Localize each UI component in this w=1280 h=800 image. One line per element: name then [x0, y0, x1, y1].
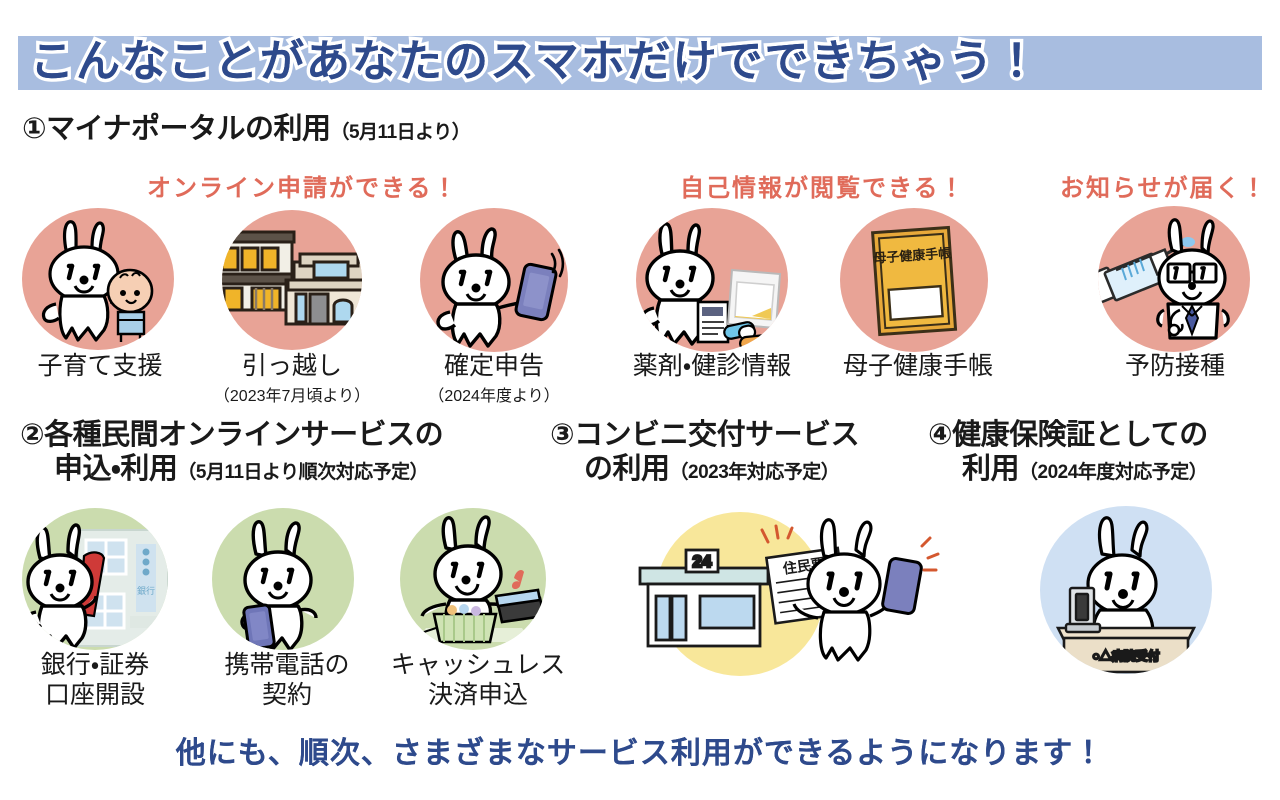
icon-circle-cashless-payment	[400, 508, 546, 650]
icon-circle-childcare	[22, 208, 174, 350]
section-3-number: ③	[550, 419, 574, 451]
caption-mobile-contract-line1: 携帯電話の	[192, 650, 382, 680]
caption-moving: 引っ越し	[202, 352, 382, 381]
icon-circle-maternal-handbook: 母子健康手帳	[840, 208, 988, 352]
caption-bank-account-line2: 口座開設	[0, 680, 190, 710]
hospital-desk-text: ○△病院受付	[1092, 649, 1159, 663]
caption-vaccination: 予防接種	[1080, 352, 1270, 381]
group-heading-own-info: 自己情報が閲覧できる！	[680, 168, 966, 203]
caption-childcare: 子育て支援	[0, 352, 200, 381]
houses-icon	[222, 210, 362, 350]
section-1-number: ①	[22, 113, 46, 145]
rabbit-with-smartphone-icon	[420, 208, 568, 352]
section-2-title-line1: 各種民間オンラインサービスの	[44, 419, 443, 451]
icon-circle-mobile-contract	[212, 508, 354, 650]
section-3-title-line1: コンビニ交付サービス	[574, 419, 859, 451]
page-title: こんなことがあなたのスマホだけでできちゃう！	[30, 26, 1250, 98]
subcaption-moving: （2023年7月頃より）	[182, 382, 402, 406]
caption-cashless-payment-line1: キャッシュレス	[378, 650, 578, 680]
rabbit-with-medicine-icon	[636, 208, 788, 352]
section-1-title: マイナポータルの利用	[46, 113, 330, 145]
section-3-title-line2: の利用	[584, 453, 670, 485]
section-3-heading: ③コンビニ交付サービス の利用（2023年対応予定）	[550, 418, 859, 486]
icon-circle-bank-account: 銀行	[22, 508, 168, 650]
caption-cashless-payment-line2: 決済申込	[378, 680, 578, 710]
store-sign-text: 24	[693, 552, 712, 571]
maternal-health-handbook-icon: 母子健康手帳	[840, 208, 988, 352]
section-4-title-line2: 利用	[962, 453, 1019, 485]
bank-sign-text: 銀行	[137, 585, 155, 596]
caption-bank-account-line1: 銀行・証券	[0, 650, 190, 680]
caption-medicine-checkup: 薬剤・健診情報	[612, 352, 812, 381]
doctor-rabbit-syringe-icon	[1098, 206, 1250, 352]
section-4-note: （2024年度対応予定）	[1019, 462, 1207, 483]
caption-bank-account: 銀行・証券 口座開設	[0, 650, 190, 710]
rabbit-with-baby-icon	[22, 208, 174, 350]
icon-circle-hospital-reception: ○△病院受付	[1040, 506, 1212, 674]
section-3-note: （2023年対応予定）	[670, 462, 840, 483]
section-4-heading: ④健康保険証としての 利用（2024年度対応予定）	[928, 418, 1208, 486]
section-4-title-line1: 健康保険証としての	[952, 419, 1208, 451]
rabbit-mobile-phone-icon	[212, 508, 354, 650]
icon-circle-medicine-checkup	[636, 208, 788, 352]
icon-circle-moving	[222, 210, 362, 350]
section-1-heading: ①マイナポータルの利用（5月11日より）	[22, 112, 470, 146]
caption-mobile-contract-line2: 契約	[192, 680, 382, 710]
infographic-page: こんなことがあなたのスマホだけでできちゃう！ こんなことがあなたのスマホだけでで…	[0, 0, 1280, 800]
caption-cashless-payment: キャッシュレス 決済申込	[378, 650, 578, 710]
caption-mobile-contract: 携帯電話の 契約	[192, 650, 382, 710]
caption-maternal-handbook: 母子健康手帳	[818, 352, 1018, 381]
section-4-number: ④	[928, 419, 952, 451]
section-2-heading: ②各種民間オンラインサービスの 申込・利用（5月11日より順次対応予定）	[20, 418, 443, 486]
section-1-note: （5月11日より）	[330, 122, 470, 143]
section-2-number: ②	[20, 419, 44, 451]
hospital-reception-icon: ○△病院受付	[1040, 506, 1212, 674]
group-heading-online-application: オンライン申請ができる！	[147, 168, 459, 203]
convenience-store-resident-certificate-icon: 24 住民票	[612, 500, 942, 690]
icon-circle-vaccination	[1098, 206, 1250, 352]
caption-tax-return: 確定申告	[404, 352, 584, 381]
subcaption-tax-return: （2024年度より）	[384, 382, 604, 406]
section-2-note: （5月11日より順次対応予定）	[177, 462, 428, 483]
rabbit-bank-icon: 銀行	[22, 508, 168, 650]
group-heading-notification: お知らせが届く！	[1060, 168, 1268, 203]
section-2-title-line2: 申込・利用	[54, 453, 177, 485]
footer-note: 他にも、順次、さまざまなサービス利用ができるようになります！	[0, 730, 1280, 778]
rabbit-cashless-payment-icon	[400, 508, 546, 650]
icon-circle-tax-return	[420, 208, 568, 352]
